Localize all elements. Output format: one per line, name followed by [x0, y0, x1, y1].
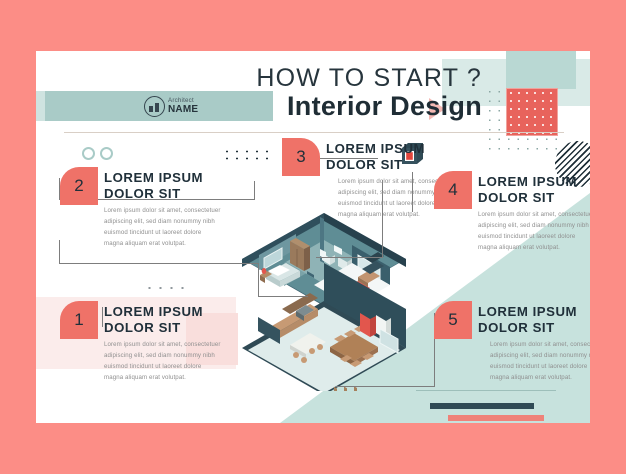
- infographic-canvas: Architect NAME HOW TO START ? Interior D…: [0, 0, 626, 474]
- connector-step4-h: [316, 257, 383, 259]
- infographic-card: Architect NAME HOW TO START ? Interior D…: [36, 51, 590, 423]
- step-3-number: 3: [282, 138, 320, 176]
- logo-line-2: NAME: [168, 105, 198, 115]
- step-2-number: 2: [60, 167, 98, 205]
- step-5-number: 5: [434, 301, 472, 339]
- page-title: HOW TO START ? Interior Design: [222, 65, 482, 121]
- mint-rule-decoration: [416, 390, 556, 391]
- circle-outline-icon: [100, 147, 113, 160]
- step-5-body: Lorem ipsum dolor sit amet, consectetuer…: [490, 339, 590, 383]
- connector-step1-h2: [258, 296, 308, 298]
- circle-outline-icon: [82, 147, 95, 160]
- step-1-heading: LOREM IPSUM DOLOR SIT: [104, 304, 234, 336]
- title-line-1: HOW TO START ?: [222, 65, 482, 91]
- header-divider: [64, 132, 564, 133]
- step-4-heading: LOREM IPSUM DOLOR SIT: [478, 174, 590, 206]
- coral-bar-decoration: [448, 415, 544, 421]
- connector-step1: [59, 240, 61, 264]
- connector-step5-h: [336, 386, 435, 388]
- connector-step1-v2: [258, 263, 260, 297]
- step-4-number: 4: [434, 171, 472, 209]
- architect-building-circle-icon: [144, 96, 165, 117]
- title-line-2: Interior Design: [222, 92, 482, 120]
- dot-row-decoration: [144, 285, 190, 290]
- connector-step2-v2: [254, 181, 256, 199]
- brand-logo: Architect NAME: [144, 95, 210, 118]
- dot-cluster-decoration: [222, 148, 274, 160]
- step-1-body: Lorem ipsum dolor sit amet, consectetuer…: [104, 339, 222, 383]
- step-2-body: Lorem ipsum dolor sit amet, consectetuer…: [104, 205, 222, 249]
- connector-step1-h: [59, 263, 259, 265]
- step-1-number: 1: [60, 301, 98, 339]
- step-4-body: Lorem ipsum dolor sit amet, consectetuer…: [478, 209, 590, 253]
- teal-top-right-square: [506, 51, 576, 89]
- step-2-heading: LOREM IPSUM DOLOR SIT: [104, 170, 234, 202]
- step-5-heading: LOREM IPSUM DOLOR SIT: [478, 304, 590, 336]
- step-3-heading: LOREM IPSUM DOLOR SIT: [326, 141, 456, 173]
- red-dotted-square-decoration: [506, 88, 558, 136]
- dark-bar-decoration: [430, 403, 534, 409]
